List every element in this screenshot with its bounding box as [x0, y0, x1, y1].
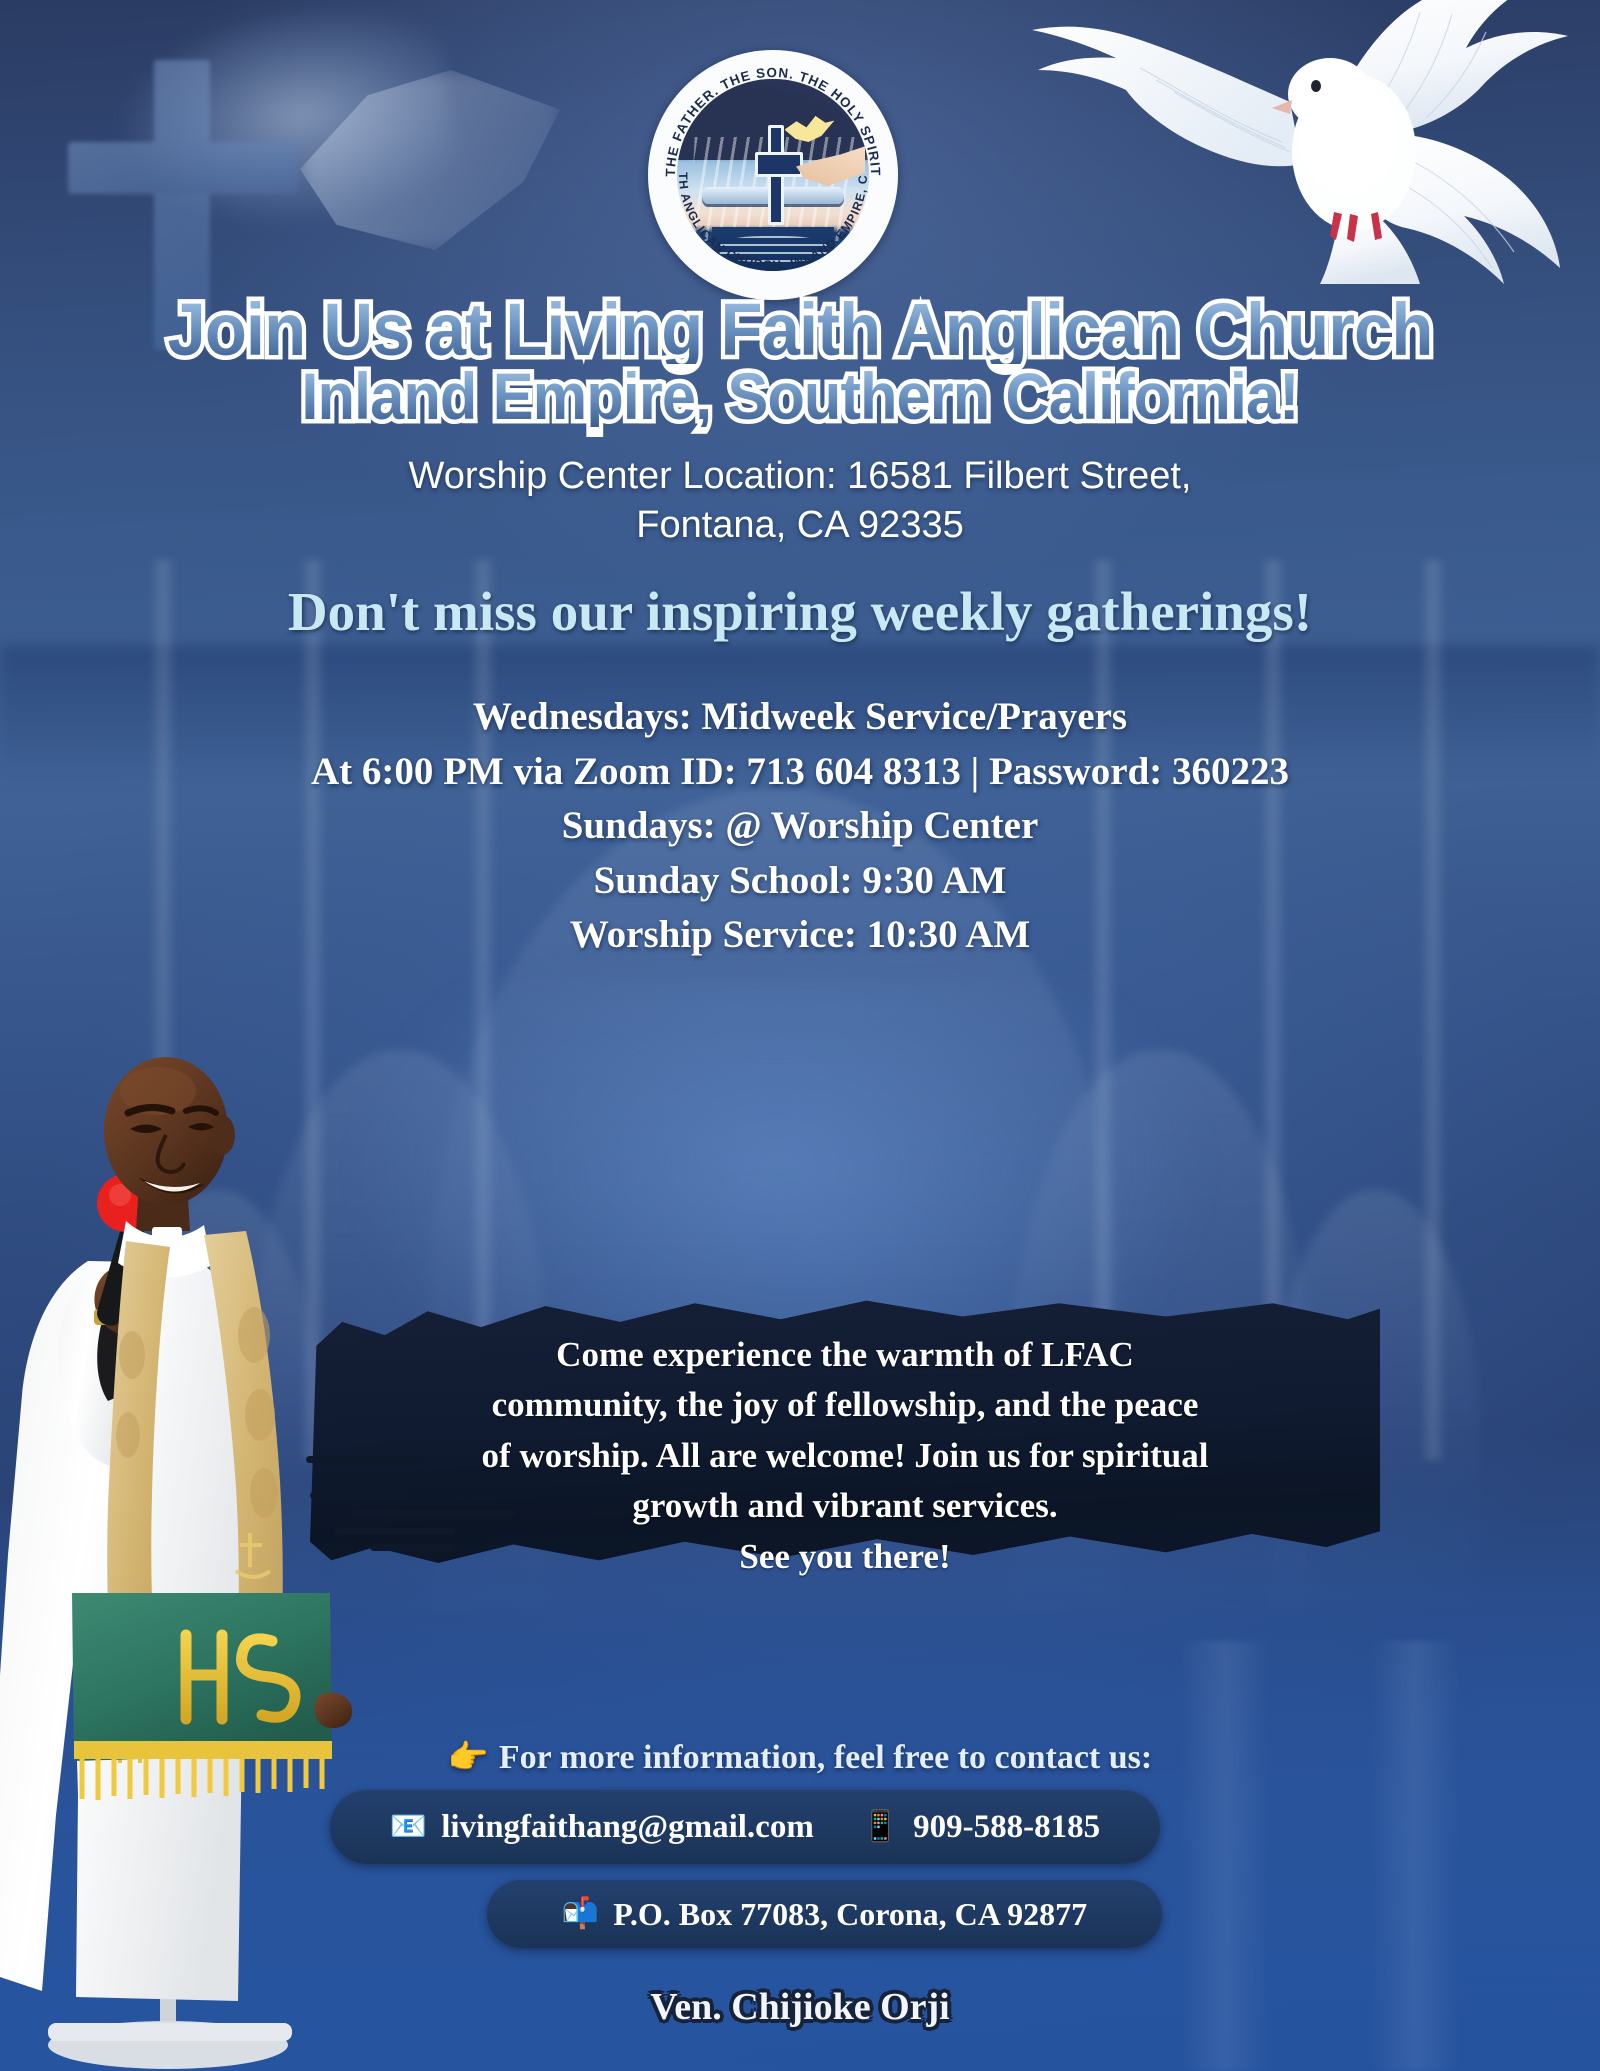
headline-line-1: Join Us at Living Faith Anglican Church … [0, 296, 1600, 364]
contact-pill-mailing: 📬 P.O. Box 77083, Corona, CA 92877 [487, 1880, 1162, 1948]
phone-number[interactable]: 909-588-8185 [913, 1809, 1100, 1846]
banner-line: of worship. All are welcome! Join us for… [330, 1431, 1360, 1481]
worship-center-address: Worship Center Location: 16581 Filbert S… [0, 452, 1600, 549]
phone-contact[interactable]: 📱 909-588-8185 [862, 1809, 1100, 1846]
headline: Join Us at Living Faith Anglican Church … [0, 296, 1600, 427]
banner-line: growth and vibrant services. [330, 1481, 1360, 1531]
service-line: Sunday School: 9:30 AM [0, 854, 1600, 909]
logo-ring-text: THE FATHER. THE SON. THE HOLY SPIRIT LIV… [648, 50, 898, 300]
mobile-phone-icon: 📱 [862, 1812, 899, 1842]
flyer-canvas: THE FATHER. THE SON. THE HOLY SPIRIT LIV… [0, 0, 1600, 2071]
signature-name: Ven. Chijioke Orji [0, 1985, 1600, 2029]
banner-line: See you there! [330, 1532, 1360, 1582]
address-line-1: Worship Center Location: 16581 Filbert S… [0, 452, 1600, 501]
church-logo: THE FATHER. THE SON. THE HOLY SPIRIT LIV… [648, 50, 898, 300]
service-line: At 6:00 PM via Zoom ID: 713 604 8313 | P… [0, 745, 1600, 800]
address-line-2: Fontana, CA 92335 [0, 501, 1600, 550]
service-line: Sundays: @ Worship Center [0, 799, 1600, 854]
headline-line-1-face: Join Us at Living Faith Anglican Church [56, 296, 1544, 364]
contact-pill-primary: 📧 livingfaithang@gmail.com 📱 909-588-818… [330, 1790, 1160, 1864]
service-line: Worship Service: 10:30 AM [0, 908, 1600, 963]
tagline: Don't miss our inspiring weekly gatherin… [0, 580, 1600, 643]
dove-illustration [990, 0, 1600, 284]
email-contact[interactable]: 📧 livingfaithang@gmail.com [390, 1809, 814, 1846]
headline-line-2: Inland Empire, Southern California! Inla… [0, 366, 1600, 427]
pointing-hand-icon: 👉 [448, 1740, 489, 1776]
banner-line: community, the joy of fellowship, and th… [330, 1380, 1360, 1430]
priest-photo [0, 1035, 430, 2071]
service-schedule: Wednesdays: Midweek Service/Prayers At 6… [0, 690, 1600, 963]
email-address[interactable]: livingfaithang@gmail.com [441, 1809, 814, 1846]
email-icon: 📧 [390, 1812, 427, 1842]
contact-heading-text: For more information, feel free to conta… [499, 1739, 1152, 1776]
po-box-address: P.O. Box 77083, Corona, CA 92877 [613, 1896, 1087, 1933]
po-box-contact: 📬 P.O. Box 77083, Corona, CA 92877 [562, 1896, 1087, 1933]
service-line: Wednesdays: Midweek Service/Prayers [0, 690, 1600, 745]
contact-heading: 👉For more information, feel free to cont… [0, 1738, 1600, 1777]
banner-line: Come experience the warmth of LFAC [330, 1330, 1360, 1380]
mailbox-icon: 📬 [562, 1899, 599, 1929]
logo-bottom-arc-text: LIVING FAITH ANGLICAN CHURCH, INLAND EMP… [648, 50, 870, 272]
headline-line-2-face: Inland Empire, Southern California! [56, 366, 1544, 427]
welcome-banner-text: Come experience the warmth of LFAC commu… [330, 1330, 1360, 1582]
logo-top-arc-text: THE FATHER. THE SON. THE HOLY SPIRIT [663, 65, 883, 177]
